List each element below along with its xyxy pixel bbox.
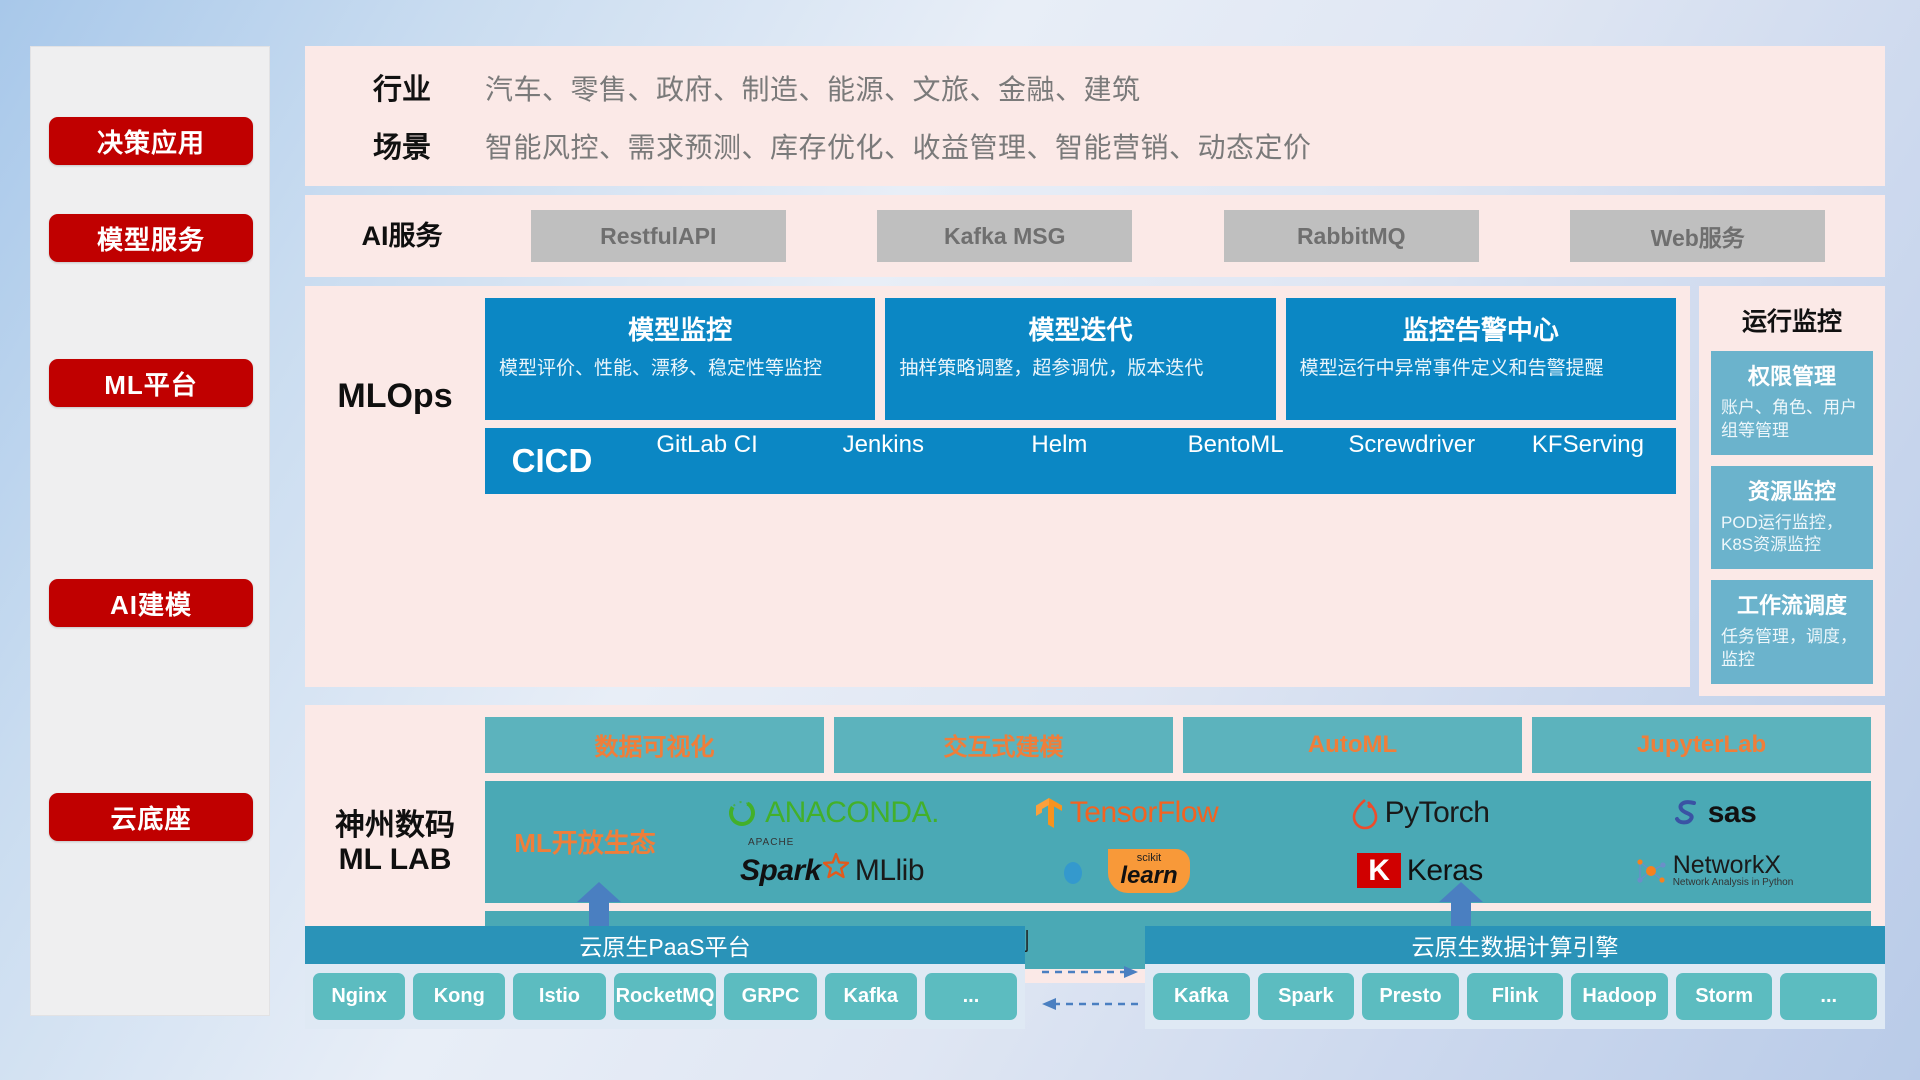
data-chip-kafka[interactable]: Kafka (1153, 973, 1250, 1020)
cloud-paas-chip-list: Nginx Kong Istio RocketMQ GRPC Kafka ... (305, 964, 1025, 1029)
rail-item-label: ML平台 (104, 365, 198, 402)
ml-lab-label-line1: 神州数码 (335, 809, 455, 843)
ai-service-list: RestfulAPI Kafka MSG RabbitMQ Web服务 (485, 210, 1885, 262)
service-chip-rabbitmq[interactable]: RabbitMQ (1224, 210, 1479, 262)
ml-lab-tab-list: 数据可视化 交互式建模 AutoML JupyterLab (485, 717, 1871, 773)
mlops-card-model-iteration[interactable]: 模型迭代 抽样策略调整，超参调优，版本迭代 (885, 298, 1275, 420)
monitor-card-title: 权限管理 (1721, 359, 1863, 391)
cicd-item-kfserving[interactable]: KFServing (1500, 429, 1676, 493)
service-chip-kafka-msg[interactable]: Kafka MSG (877, 210, 1132, 262)
rail-item-label: 决策应用 (97, 123, 205, 160)
rail-item-decision-apps[interactable]: 决策应用 (49, 117, 253, 165)
rail-item-model-service[interactable]: 模型服务 (49, 214, 253, 262)
tab-automl[interactable]: AutoML (1183, 717, 1522, 773)
apps-rows: 行业 汽车、零售、政府、制造、能源、文旅、金融、建筑 场景 智能风控、需求预测、… (319, 66, 1312, 166)
band-ai-service: AI服务 RestfulAPI Kafka MSG RabbitMQ Web服务 (305, 195, 1885, 277)
cloud-data-engine-group: 云原生数据计算引擎 Kafka Spark Presto Flink Hadoo… (1145, 926, 1885, 1029)
cloud-data-title: 云原生数据计算引擎 (1145, 926, 1885, 964)
ai-service-label: AI服务 (319, 221, 485, 251)
cicd-item-bentoml[interactable]: BentoML (1148, 429, 1324, 493)
data-chip-flink[interactable]: Flink (1467, 973, 1564, 1020)
tensorflow-logo: TensorFlow (1034, 796, 1218, 830)
up-arrow-paas-icon (573, 880, 625, 928)
apps-scenario-key: 场景 (319, 124, 485, 166)
rail-item-ml-platform[interactable]: ML平台 (49, 359, 253, 407)
tensorflow-mark-icon (1034, 796, 1064, 830)
monitor-card-desc: POD运行监控，K8S资源监控 (1721, 512, 1863, 558)
service-chip-web-service[interactable]: Web服务 (1570, 210, 1825, 262)
mlops-card-desc: 抽样策略调整，超参调优，版本迭代 (899, 356, 1261, 382)
rail-item-label: AI建模 (110, 585, 192, 622)
monitor-card-permission[interactable]: 权限管理 账户、角色、用户组等管理 (1711, 351, 1873, 455)
networkx-wordmark: NetworkX (1673, 853, 1794, 878)
cloud-chip-istio[interactable]: Istio (513, 973, 605, 1020)
ml-lab-label-line2: ML LAB (335, 843, 455, 877)
rail-item-label: 云底座 (110, 799, 191, 836)
cloud-paas-group: 云原生PaaS平台 Nginx Kong Istio RocketMQ GRPC… (305, 926, 1025, 1029)
apps-row-industry: 行业 汽车、零售、政府、制造、能源、文旅、金融、建筑 (319, 66, 1312, 108)
mlops-card-model-monitoring[interactable]: 模型监控 模型评价、性能、漂移、稳定性等监控 (485, 298, 875, 420)
stage-rail: 决策应用 模型服务 ML平台 AI建模 云底座 (30, 46, 270, 1016)
band-decision-apps: 行业 汽车、零售、政府、制造、能源、文旅、金融、建筑 场景 智能风控、需求预测、… (305, 46, 1885, 186)
monitor-panel-title: 运行监控 (1711, 302, 1873, 338)
up-arrow-data-icon (1435, 880, 1487, 928)
apps-industry-key: 行业 (319, 66, 485, 108)
anaconda-logo: ANACONDA. (725, 796, 939, 830)
rail-item-ai-modeling[interactable]: AI建模 (49, 579, 253, 627)
row-mlops-and-monitor: MLOps 模型监控 模型评价、性能、漂移、稳定性等监控 模型迭代 抽样策略调整… (305, 286, 1885, 696)
cloud-data-chip-list: Kafka Spark Presto Flink Hadoop Storm ..… (1145, 964, 1885, 1029)
monitor-card-title: 工作流调度 (1721, 588, 1863, 620)
apps-row-scenario: 场景 智能风控、需求预测、库存优化、收益管理、智能营销、动态定价 (319, 124, 1312, 166)
rail-item-cloud-base[interactable]: 云底座 (49, 793, 253, 841)
tensorflow-wordmark: TensorFlow (1070, 796, 1218, 830)
cloud-chip-kafka[interactable]: Kafka (825, 973, 917, 1020)
monitor-card-title: 资源监控 (1721, 474, 1863, 506)
cloud-base-layer: 云原生PaaS平台 Nginx Kong Istio RocketMQ GRPC… (305, 880, 1885, 1050)
ml-open-ecosystem-title: ML开放生态 (485, 823, 685, 860)
mlops-card-desc: 模型评价、性能、漂移、稳定性等监控 (499, 356, 861, 382)
architecture-diagram: 决策应用 模型服务 ML平台 AI建模 云底座 行业 汽车、零售、政府、制造、能… (0, 0, 1920, 1080)
mlops-card-title: 模型迭代 (899, 310, 1261, 347)
mlops-card-list: 模型监控 模型评价、性能、漂移、稳定性等监控 模型迭代 抽样策略调整，超参调优，… (485, 298, 1676, 420)
mlops-content: 模型监控 模型评价、性能、漂移、稳定性等监控 模型迭代 抽样策略调整，超参调优，… (485, 298, 1676, 494)
pytorch-logo: PyTorch (1351, 796, 1490, 830)
mlops-card-desc: 模型运行中异常事件定义和告警提醒 (1300, 356, 1662, 382)
cloud-chip-nginx[interactable]: Nginx (313, 973, 405, 1020)
tab-interactive-modeling[interactable]: 交互式建模 (834, 717, 1173, 773)
data-chip-more[interactable]: ... (1780, 973, 1877, 1020)
cicd-item-gitlab-ci[interactable]: GitLab CI (619, 429, 795, 493)
apps-scenario-value: 智能风控、需求预测、库存优化、收益管理、智能营销、动态定价 (485, 126, 1312, 166)
monitor-card-desc: 账户、角色、用户组等管理 (1721, 397, 1863, 443)
tab-data-visualization[interactable]: 数据可视化 (485, 717, 824, 773)
cloud-paas-title: 云原生PaaS平台 (305, 926, 1025, 964)
anaconda-mark-icon (725, 796, 759, 830)
cicd-item-list: GitLab CI Jenkins Helm BentoML Screwdriv… (619, 429, 1676, 493)
cicd-item-screwdriver[interactable]: Screwdriver (1324, 429, 1500, 493)
monitor-card-desc: 任务管理，调度，监控 (1721, 626, 1863, 672)
panel-runtime-monitor: 运行监控 权限管理 账户、角色、用户组等管理 资源监控 POD运行监控，K8S资… (1699, 286, 1885, 696)
cicd-item-helm[interactable]: Helm (971, 429, 1147, 493)
cicd-bar: CICD GitLab CI Jenkins Helm BentoML Scre… (485, 428, 1676, 494)
data-chip-hadoop[interactable]: Hadoop (1571, 973, 1668, 1020)
apps-industry-value: 汽车、零售、政府、制造、能源、文旅、金融、建筑 (485, 68, 1141, 108)
spark-star-icon (823, 853, 849, 879)
layer-stack: 行业 汽车、零售、政府、制造、能源、文旅、金融、建筑 场景 智能风控、需求预测、… (305, 46, 1885, 983)
pytorch-wordmark: PyTorch (1385, 796, 1490, 830)
pytorch-flame-icon (1351, 796, 1379, 830)
mlops-card-title: 模型监控 (499, 310, 861, 347)
cloud-chip-more[interactable]: ... (925, 973, 1017, 1020)
rail-item-label: 模型服务 (97, 220, 205, 257)
cicd-title: CICD (485, 442, 619, 480)
cicd-item-jenkins[interactable]: Jenkins (795, 429, 971, 493)
bidirectional-dashed-link-icon (1040, 958, 1140, 1018)
data-chip-storm[interactable]: Storm (1676, 973, 1773, 1020)
service-chip-restfulapi[interactable]: RestfulAPI (531, 210, 786, 262)
cloud-chip-rocketmq[interactable]: RocketMQ (614, 973, 717, 1020)
cloud-chip-kong[interactable]: Kong (413, 973, 505, 1020)
anaconda-wordmark: ANACONDA. (765, 796, 939, 830)
sas-wordmark: sas (1708, 796, 1757, 830)
mlops-label: MLOps (305, 298, 485, 494)
cloud-chip-grpc[interactable]: GRPC (724, 973, 816, 1020)
monitor-card-resource[interactable]: 资源监控 POD运行监控，K8S资源监控 (1711, 466, 1873, 570)
sas-mark-icon (1672, 797, 1702, 829)
sas-logo: sas (1672, 796, 1757, 830)
tab-jupyterlab[interactable]: JupyterLab (1532, 717, 1871, 773)
spark-apache-tag: APACHE (748, 837, 794, 848)
data-chip-spark[interactable]: Spark (1258, 973, 1355, 1020)
data-chip-presto[interactable]: Presto (1362, 973, 1459, 1020)
monitor-card-workflow[interactable]: 工作流调度 任务管理，调度，监控 (1711, 580, 1873, 684)
band-mlops: MLOps 模型监控 模型评价、性能、漂移、稳定性等监控 模型迭代 抽样策略调整… (305, 286, 1690, 687)
mlops-card-title: 监控告警中心 (1300, 310, 1662, 347)
mlops-card-alert-center[interactable]: 监控告警中心 模型运行中异常事件定义和告警提醒 (1286, 298, 1676, 420)
